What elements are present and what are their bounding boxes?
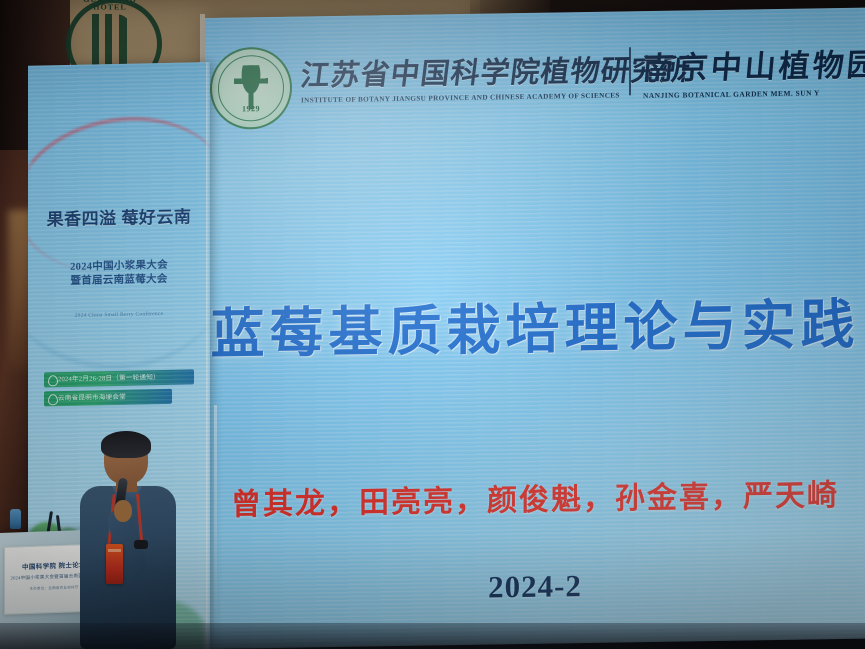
banner-info-badge-venue: 云南省昆明市海埂会堂 [44, 389, 172, 407]
banner-info-badge-date: 2024年2月26-28日（第一轮通知） [44, 369, 194, 387]
banner-info-badge-venue-text: 云南省昆明市海埂会堂 [58, 394, 126, 402]
presenter [62, 434, 194, 649]
slide-date: 2024-2 [205, 564, 865, 610]
slide-header: 1929 江苏省中国科学院植物研究所 INSTITUTE OF BOTANY J… [205, 28, 865, 130]
presenter-badge [106, 544, 123, 584]
banner-info-badge-date-text: 2024年2月26-28日（第一轮通知） [58, 374, 160, 383]
location-pin-icon [48, 375, 58, 386]
presenter-hand [114, 500, 132, 522]
banner-right-edge [206, 62, 210, 649]
institute-name-cn: 江苏省中国科学院植物研究所 [298, 47, 621, 94]
institute-name-block: 江苏省中国科学院植物研究所 INSTITUTE OF BOTANY JIANGS… [301, 47, 619, 104]
presenter-badge-strip [108, 549, 121, 552]
led-screen: 1929 江苏省中国科学院植物研究所 INSTITUTE OF BOTANY J… [205, 8, 865, 649]
presenter-hair [101, 431, 151, 458]
seal-plant-mark-icon [234, 65, 268, 110]
water-bottle [10, 509, 21, 529]
banner-headline: 果香四溢 莓好云南 [28, 202, 210, 231]
institute-seal-icon: 1929 [210, 47, 292, 130]
seal-year: 1929 [210, 104, 292, 114]
garden-name-cn: 南京中山植物园 [641, 39, 865, 88]
garden-name-block: 南京中山植物园 NANJING BOTANICAL GARDEN MEM. SU… [643, 39, 865, 100]
slide-content: 1929 江苏省中国科学院植物研究所 INSTITUTE OF BOTANY J… [205, 8, 865, 649]
slide-authors: 曾其龙，田亮亮，颜俊魁，孙金喜，严天崎 [205, 470, 865, 524]
slide-title: 蓝莓基质栽培理论与实践 [205, 280, 865, 369]
garden-name-en: NANJING BOTANICAL GARDEN MEM. SUN Y [643, 87, 865, 100]
banner-subtitle: 2024中国小浆果大会 暨首届云南蓝莓大会 [28, 258, 210, 290]
conference-photo-scene: GUANFANG HOTEL 1929 江苏省中国科学院植物研究所 INSTIT… [0, 0, 865, 649]
location-pin-icon-2 [48, 394, 58, 405]
screen-lower-seam [214, 405, 217, 649]
header-divider [629, 47, 631, 95]
stage-floor [0, 623, 865, 649]
hotel-logo-mark [86, 14, 132, 66]
presenter-watch [134, 540, 148, 549]
